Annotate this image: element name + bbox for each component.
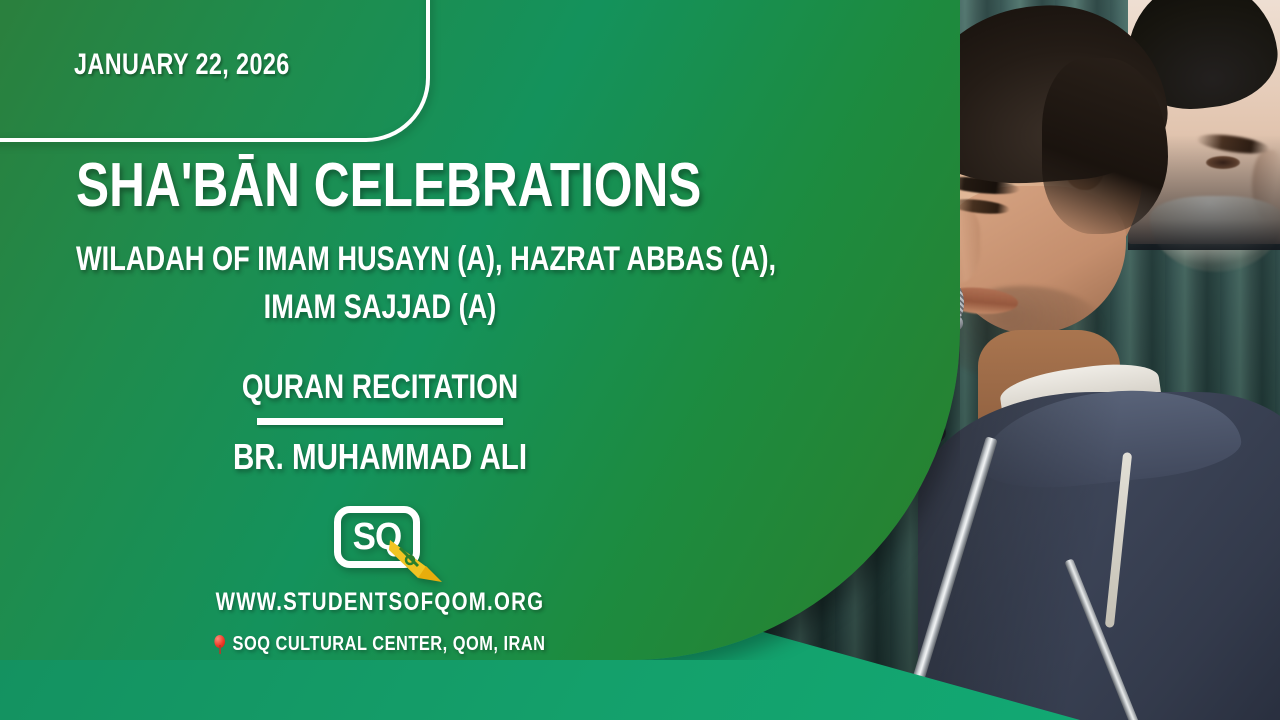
event-subtitle: WILADAH OF IMAM HUSAYN (A), HAZRAT ABBAS… (76, 235, 684, 332)
subtitle-line-1: WILADAH OF IMAM HUSAYN (A), HAZRAT ABBAS… (76, 235, 684, 283)
speaker-hair-side (1042, 58, 1168, 234)
event-title: SHA'BĀN CELEBRATIONS (76, 155, 684, 217)
subtitle-line-2: IMAM SAJJAD (A) (76, 283, 684, 331)
venue-location: SOQ CULTURAL CENTER, QOM, IRAN (68, 633, 691, 656)
venue-label: SOQ CULTURAL CENTER, QOM, IRAN (233, 633, 546, 656)
divider-rule (257, 418, 503, 425)
poster-content: SHA'BĀN CELEBRATIONS WILADAH OF IMAM HUS… (0, 155, 760, 656)
website-url: WWW.STUDENTSOFQOM.ORG (68, 588, 691, 617)
map-pin-icon (214, 635, 225, 654)
reciter-name: BR. MUHAMMAD ALI (68, 436, 691, 478)
hoodie-shading (918, 392, 1280, 720)
event-date: JANUARY 22, 2026 (74, 48, 290, 82)
event-poster: JANUARY 22, 2026 SHA'BĀN CELEBRATIONS WI… (0, 0, 1280, 720)
program-segment: QURAN RECITATION (68, 368, 691, 407)
soq-logo: SQ (328, 504, 432, 578)
